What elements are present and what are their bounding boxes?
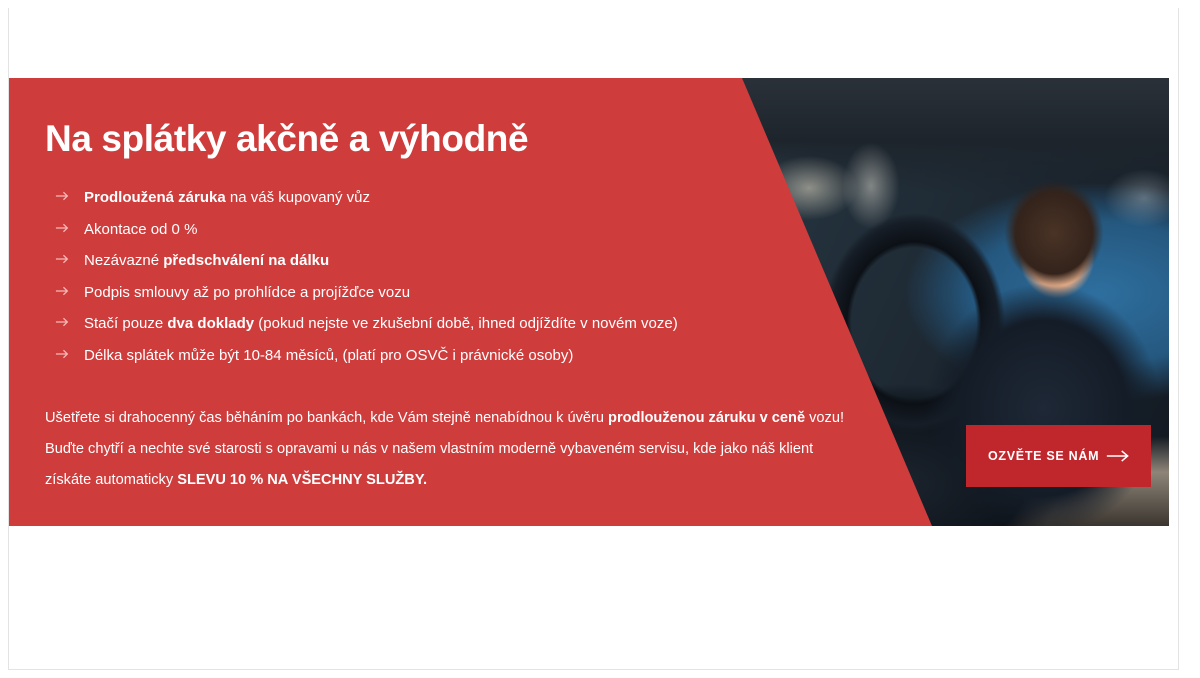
arrow-right-icon xyxy=(55,347,70,361)
list-item-tail: (pokud nejste ve zkušební době, ihned od… xyxy=(254,315,678,332)
list-item-rest: na váš kupovaný vůz xyxy=(226,189,370,206)
list-item-label: Podpis smlouvy až po prohlídce a projížď… xyxy=(84,284,410,302)
list-item-label: Stačí pouze dva doklady (pokud nejste ve… xyxy=(84,315,678,333)
arrow-right-icon xyxy=(55,189,70,203)
contact-us-button-label: OZVĚTE SE NÁM xyxy=(988,449,1099,463)
page-title: Na splátky akčně a výhodně xyxy=(45,118,528,160)
arrow-right-icon xyxy=(1105,448,1131,464)
list-item-rest: Stačí pouze xyxy=(84,315,167,332)
arrow-right-icon xyxy=(55,221,70,235)
list-item-rest: Délka splátek může být 10-84 měsíců, (pl… xyxy=(84,347,573,364)
list-item: Akontace od 0 % xyxy=(55,220,678,239)
list-item-label: Prodloužená záruka na váš kupovaný vůz xyxy=(84,189,370,207)
promo-paragraph: Ušetřete si drahocenný čas běháním po ba… xyxy=(45,403,845,496)
list-item-rest: Akontace od 0 % xyxy=(84,221,197,238)
list-item: Stačí pouze dva doklady (pokud nejste ve… xyxy=(55,314,678,333)
list-item: Podpis smlouvy až po prohlídce a projížď… xyxy=(55,283,678,302)
list-item-label: Akontace od 0 % xyxy=(84,221,197,239)
benefits-list: Prodloužená záruka na váš kupovaný vůz A… xyxy=(55,188,678,377)
arrow-right-icon xyxy=(55,252,70,266)
list-item-label: Délka splátek může být 10-84 měsíců, (pl… xyxy=(84,347,573,365)
list-item-bold: Prodloužená záruka xyxy=(84,189,226,206)
paragraph-bold-2: SLEVU 10 % NA VŠECHNY SLUŽBY. xyxy=(177,472,427,488)
arrow-right-icon xyxy=(55,284,70,298)
list-item: Délka splátek může být 10-84 měsíců, (pl… xyxy=(55,346,678,365)
list-item-label: Nezávazné předschválení na dálku xyxy=(84,252,329,270)
list-item-rest: Podpis smlouvy až po prohlídce a projížď… xyxy=(84,284,410,301)
paragraph-part-1: Ušetřete si drahocenný čas běháním po ba… xyxy=(45,410,608,426)
banner-content: Na splátky akčně a výhodně Prodloužená z… xyxy=(45,78,905,526)
list-item-rest: Nezávazné xyxy=(84,252,163,269)
list-item-bold: dva doklady xyxy=(167,315,254,332)
list-item: Nezávazné předschválení na dálku xyxy=(55,251,678,270)
contact-us-button[interactable]: OZVĚTE SE NÁM xyxy=(966,425,1151,487)
list-item: Prodloužená záruka na váš kupovaný vůz xyxy=(55,188,678,207)
promo-banner: Na splátky akčně a výhodně Prodloužená z… xyxy=(9,78,1169,526)
page-frame: Na splátky akčně a výhodně Prodloužená z… xyxy=(8,8,1179,670)
paragraph-bold-1: prodlouženou záruku v ceně xyxy=(608,410,805,426)
list-item-bold: předschválení na dálku xyxy=(163,252,329,269)
arrow-right-icon xyxy=(55,315,70,329)
